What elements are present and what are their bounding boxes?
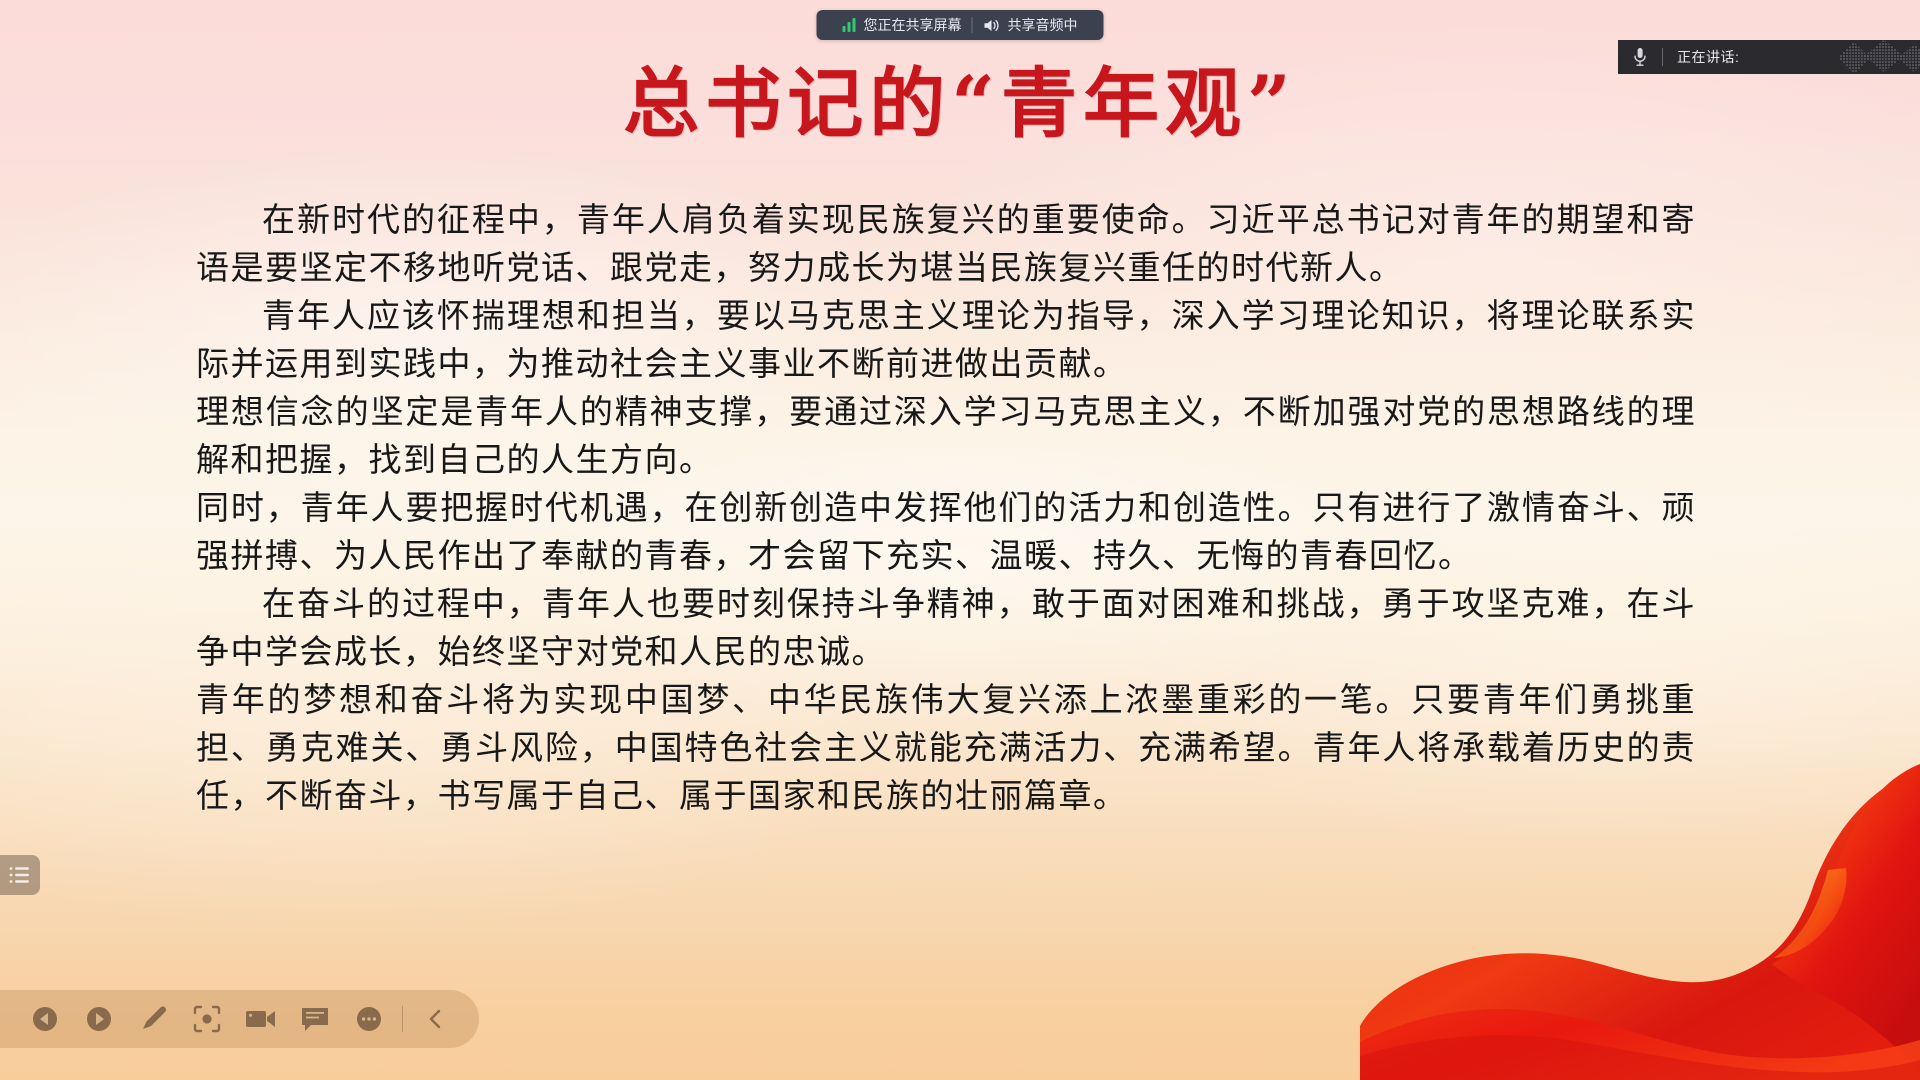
- screen-share-banner: 您正在共享屏幕 共享音频中: [817, 10, 1104, 40]
- video-camera-icon: [245, 1006, 277, 1032]
- pen-icon: [138, 1004, 168, 1034]
- screenshot-icon: [192, 1004, 222, 1034]
- chat-bubble-icon: [300, 1005, 330, 1033]
- screen-share-status: 您正在共享屏幕: [833, 15, 972, 35]
- audio-share-label: 共享音频中: [1008, 15, 1078, 35]
- previous-slide-button[interactable]: [18, 990, 72, 1048]
- previous-slide-icon: [31, 1005, 59, 1033]
- avatar-placeholder-pattern: [1840, 40, 1920, 74]
- more-options-icon: [355, 1005, 383, 1033]
- speaking-label: 正在讲话:: [1677, 47, 1739, 67]
- paragraph: 在新时代的征程中，青年人肩负着实现民族复兴的重要使命。习近平总书记对青年的期望和…: [196, 196, 1696, 292]
- paragraph: 青年的梦想和奋斗将为实现中国梦、中华民族伟大复兴添上浓墨重彩的一笔。只要青年们勇…: [196, 676, 1696, 820]
- sidebar-item-outline-toggle[interactable]: [0, 855, 40, 895]
- paragraph: 青年人应该怀揣理想和担当，要以马克思主义理论为指导，深入学习理论知识，将理论联系…: [196, 292, 1696, 388]
- paragraph: 在奋斗的过程中，青年人也要时刻保持斗争精神，敢于面对困难和挑战，勇于攻坚克难，在…: [196, 580, 1696, 676]
- presentation-toolbar: [0, 990, 479, 1048]
- next-slide-button[interactable]: [72, 990, 126, 1048]
- speaker-icon: [983, 18, 1000, 33]
- presentation-screen: 总书记的“青年观” 在新时代的征程中，青年人肩负着实现民族复兴的重要使命。习近平…: [0, 0, 1920, 1080]
- speaker-bar-divider: [1662, 48, 1663, 66]
- screen-share-label: 您正在共享屏幕: [864, 15, 962, 35]
- collapse-toolbar-button[interactable]: [409, 990, 463, 1048]
- audio-share-status: 共享音频中: [973, 15, 1088, 35]
- slide-body-text: 在新时代的征程中，青年人肩负着实现民族复兴的重要使命。习近平总书记对青年的期望和…: [196, 196, 1696, 820]
- active-speaker-bar: 正在讲话:: [1618, 40, 1920, 74]
- more-options-button[interactable]: [342, 990, 396, 1048]
- collapse-chevron-icon: [424, 1006, 448, 1032]
- paragraph: 同时，青年人要把握时代机遇，在创新创造中发挥他们的活力和创造性。只有进行了激情奋…: [196, 484, 1696, 580]
- toolbar-divider: [402, 1006, 403, 1032]
- screenshot-button[interactable]: [180, 990, 234, 1048]
- next-slide-icon: [85, 1005, 113, 1033]
- signal-bars-icon: [843, 18, 856, 32]
- pen-tool-button[interactable]: [126, 990, 180, 1048]
- paragraph: 理想信念的坚定是青年人的精神支撑，要通过深入学习马克思主义，不断加强对党的思想路…: [196, 388, 1696, 484]
- record-video-button[interactable]: [234, 990, 288, 1048]
- microphone-icon[interactable]: [1618, 47, 1662, 67]
- chat-button[interactable]: [288, 990, 342, 1048]
- list-menu-icon: [9, 866, 31, 884]
